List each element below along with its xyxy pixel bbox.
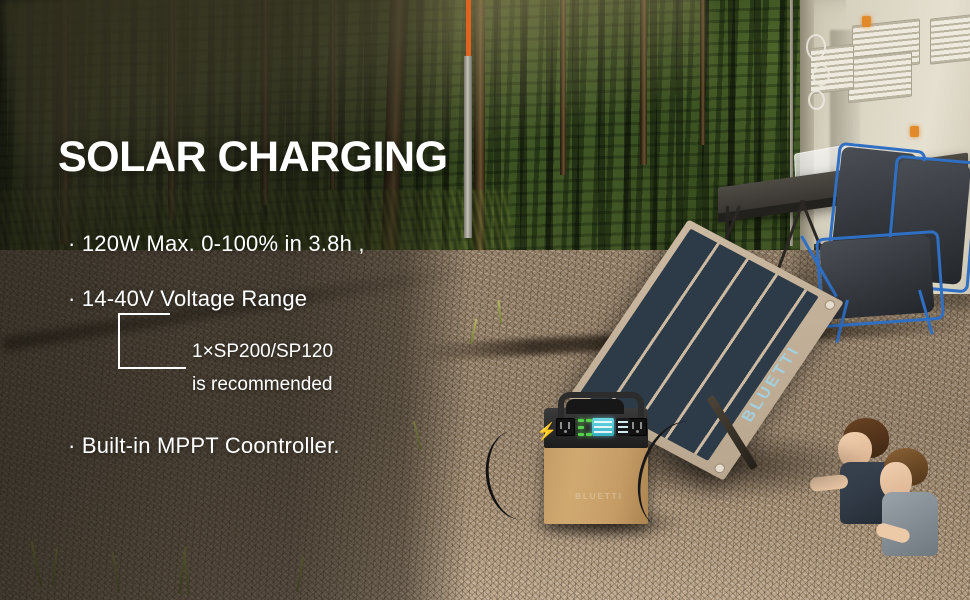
power-station: ⚡ BLUETTI: [544, 392, 656, 528]
bullet-power: · 120W Max. 0-100% in 3.8h ,: [68, 232, 365, 256]
status-led: [578, 433, 584, 436]
bracket-vertical-line: [118, 313, 120, 369]
bracket-bottom-line: [118, 367, 186, 369]
rv-vent: [848, 51, 912, 104]
status-led: [586, 419, 592, 422]
bullet-mppt: · Built-in MPPT Coontroller.: [68, 434, 340, 458]
rv-marker-light: [862, 16, 871, 27]
power-station-display: [592, 418, 614, 436]
bullet-voltage: · 14-40V Voltage Range: [68, 287, 307, 311]
power-station-handle-inner: [566, 399, 624, 414]
status-led: [578, 426, 584, 429]
power-station-logo-icon: ⚡: [536, 422, 558, 442]
cable-coil: [808, 90, 825, 110]
ac-outlet: [556, 418, 575, 436]
power-station-brand-text: BLUETTI: [570, 492, 628, 501]
ac-outlet: [628, 418, 647, 436]
page-title: SOLAR CHARGING: [58, 136, 448, 179]
copy-block: SOLAR CHARGING · 120W Max. 0-100% in 3.8…: [0, 0, 470, 600]
rv-marker-light: [910, 126, 919, 137]
power-station-body: [544, 440, 648, 524]
status-led: [578, 419, 584, 422]
note-panels: 1×SP200/SP120: [192, 341, 333, 363]
power-station-status-panel: [616, 418, 630, 436]
cable-coil: [812, 64, 830, 86]
status-led: [586, 433, 592, 436]
bracket-top-line: [118, 313, 170, 315]
cable-coil: [806, 34, 826, 60]
note-recommended: is recommended: [192, 374, 332, 396]
rv-vent: [930, 13, 970, 64]
promo-banner: BLUETTI: [0, 0, 970, 600]
